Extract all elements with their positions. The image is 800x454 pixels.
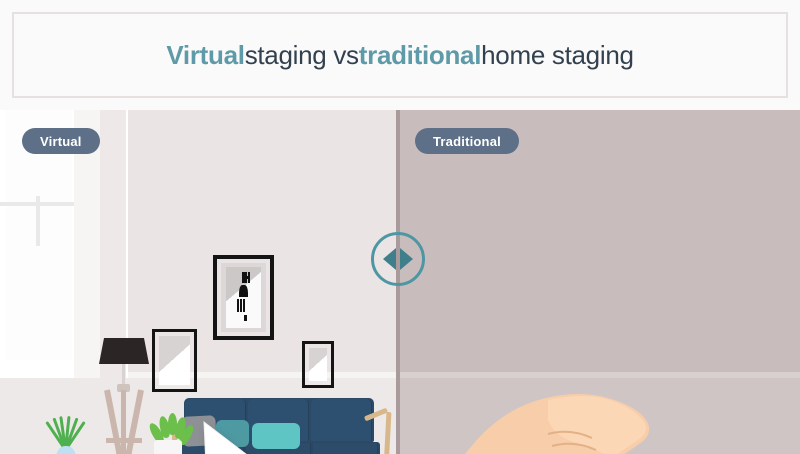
page-title: Virtual staging vs traditional home stag… (14, 14, 786, 96)
badge-virtual: Virtual (22, 128, 100, 154)
picture-frame-home-art (213, 255, 274, 340)
comparison-infographic: Virtual staging vs traditional home stag… (0, 0, 800, 454)
frame-art (159, 336, 190, 385)
title-word-virtual: Virtual (166, 40, 244, 71)
comparison-slider-handle[interactable] (371, 232, 425, 286)
home-artwork (226, 267, 261, 328)
title-box: Virtual staging vs traditional home stag… (12, 12, 788, 98)
title-word-traditional: traditional (359, 40, 481, 71)
window-mullion-vertical (36, 196, 40, 246)
floor-lamp-neck (122, 364, 125, 386)
picture-frame-small-left (152, 329, 197, 392)
scene-virtual (0, 110, 398, 454)
title-word-end: home staging (481, 40, 634, 71)
mouse-cursor-arrow-icon (202, 416, 298, 454)
floor-lamp-crossbar (106, 438, 142, 443)
grass-plant (44, 406, 88, 450)
human-hand-illustration (430, 368, 670, 454)
badge-traditional: Traditional (415, 128, 519, 154)
picture-frame-small-right (302, 341, 334, 388)
pane-virtual[interactable] (0, 110, 398, 454)
title-word-mid: staging vs (245, 40, 359, 71)
curtain-outer (100, 110, 126, 378)
arrow-left-icon (383, 248, 396, 270)
frame-art (309, 348, 327, 381)
arrow-right-icon (400, 248, 413, 270)
sofa-back-cushion (311, 399, 372, 441)
plant-pot (154, 440, 182, 454)
floor-lamp-leg (121, 390, 126, 454)
header-bar: Virtual staging vs traditional home stag… (0, 0, 800, 110)
floor-lamp-shade (99, 338, 149, 364)
sofa-seat-cushion (313, 443, 378, 454)
